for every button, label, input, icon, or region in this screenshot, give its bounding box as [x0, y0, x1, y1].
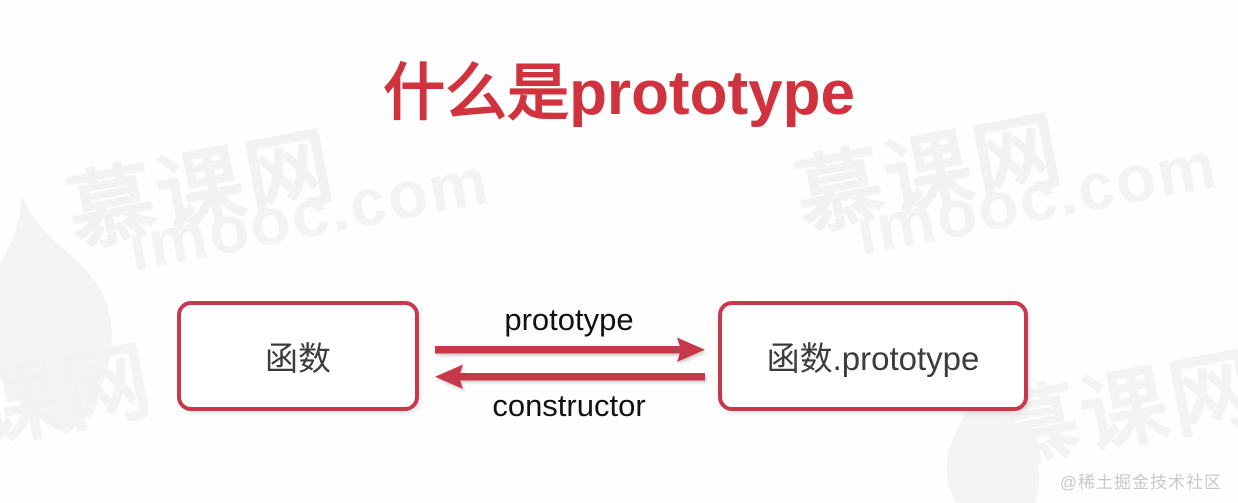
arrow-constructor-left: [435, 365, 705, 390]
diagram-node-function-prototype: 函数.prototype: [718, 301, 1028, 411]
slide-canvas: 慕课网 imooc.com 慕课网 imooc.com 慕课网 慕课网 什么是p…: [0, 0, 1238, 503]
prototype-relationship-diagram: 函数 函数.prototype prototype constructor: [0, 0, 1238, 503]
diagram-node-function-prototype-label: 函数.prototype: [767, 332, 980, 380]
diagram-node-function-label: 函数: [265, 332, 331, 380]
attribution-text: @稀土掘金技术社区: [1060, 468, 1222, 493]
arrow-prototype-right: [435, 338, 705, 363]
diagram-arrows: [425, 330, 721, 400]
diagram-node-function: 函数: [177, 301, 419, 411]
